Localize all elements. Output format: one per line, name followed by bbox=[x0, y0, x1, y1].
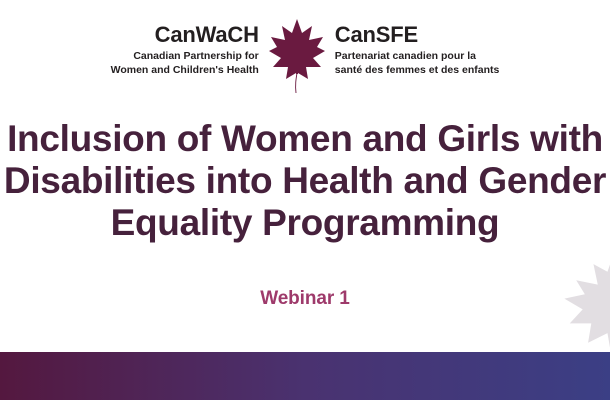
logo-tagline-english-line1: Canadian Partnership for bbox=[111, 50, 259, 64]
presentation-slide: CanWaCH Canadian Partnership for Women a… bbox=[0, 0, 610, 400]
maple-leaf-icon bbox=[268, 17, 326, 95]
logo-tagline-english: Canadian Partnership for Women and Child… bbox=[111, 50, 259, 78]
organization-logo: CanWaCH Canadian Partnership for Women a… bbox=[0, 17, 610, 95]
slide-title-line-1: Inclusion of Women and Girls with bbox=[0, 118, 610, 160]
slide-title-line-2: Disabilities into Health and Gender bbox=[0, 160, 610, 202]
logo-wordmark-cansfe: CanSFE bbox=[335, 23, 500, 46]
slide-title: Inclusion of Women and Girls with Disabi… bbox=[0, 118, 610, 245]
webinar-number-label: Webinar 1 bbox=[0, 288, 610, 310]
logo-tagline-french: Partenariat canadien pour la santé des f… bbox=[335, 50, 500, 78]
logo-tagline-french-line2: santé des femmes et des enfants bbox=[335, 64, 500, 78]
logo-french-block: CanSFE Partenariat canadien pour la sant… bbox=[335, 17, 500, 78]
logo-english-block: CanWaCH Canadian Partnership for Women a… bbox=[111, 17, 259, 78]
footer-gradient-bar bbox=[0, 352, 610, 400]
logo-wordmark-canwach: CanWaCH bbox=[111, 23, 259, 46]
slide-title-line-3: Equality Programming bbox=[0, 202, 610, 244]
logo-tagline-english-line2: Women and Children's Health bbox=[111, 64, 259, 78]
logo-tagline-french-line1: Partenariat canadien pour la bbox=[335, 50, 500, 64]
